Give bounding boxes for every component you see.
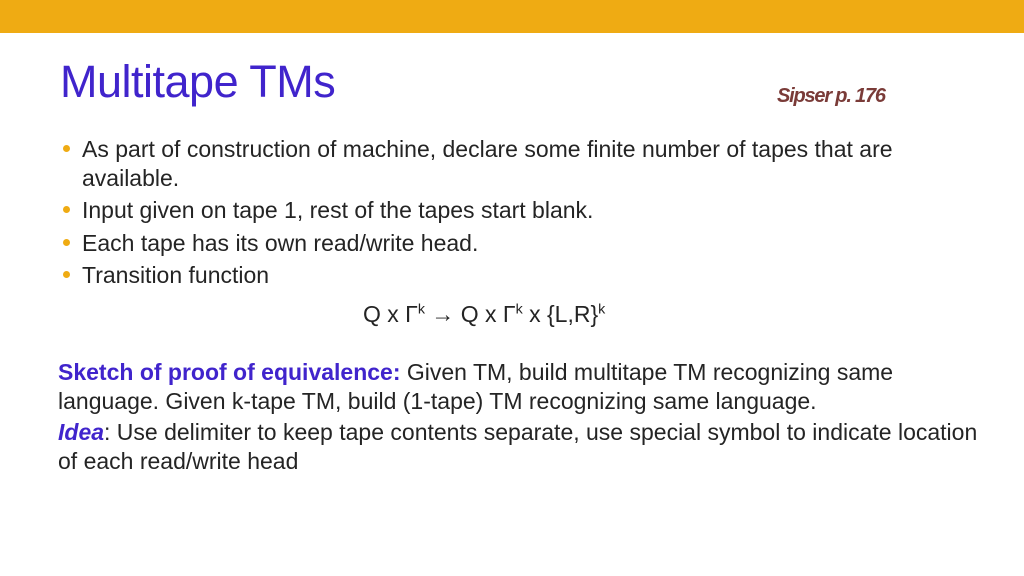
paragraph-lead-label: Sketch of proof of equivalence: <box>58 359 401 385</box>
bullet-dot-icon <box>63 145 70 152</box>
list-item: Input given on tape 1, rest of the tapes… <box>58 196 958 225</box>
formula-arrow-part: → Q x Γ <box>425 301 516 327</box>
slide: Multitape TMs Sipser p. 176 As part of c… <box>0 0 1024 576</box>
paragraph-lead-label: Idea <box>58 419 104 445</box>
list-item-text: Input given on tape 1, rest of the tapes… <box>82 197 593 223</box>
list-item: Each tape has its own read/write head. <box>58 229 958 258</box>
formula-superscript-1: k <box>418 301 425 317</box>
paragraph-idea: Idea: Use delimiter to keep tape content… <box>58 418 978 475</box>
source-reference: Sipser p. 176 <box>777 85 885 108</box>
list-item-text: As part of construction of machine, decl… <box>82 136 893 191</box>
list-item: As part of construction of machine, decl… <box>58 135 958 192</box>
bullet-list: As part of construction of machine, decl… <box>58 135 958 294</box>
list-item-text: Each tape has its own read/write head. <box>82 230 478 256</box>
formula-part-1: Q x Γ <box>363 301 418 327</box>
page-title: Multitape TMs <box>60 58 335 106</box>
bullet-dot-icon <box>63 239 70 246</box>
bullet-dot-icon <box>63 271 70 278</box>
bullet-dot-icon <box>63 206 70 213</box>
list-item-text: Transition function <box>82 262 269 288</box>
formula-superscript-3: k <box>598 301 605 317</box>
body-paragraphs: Sketch of proof of equivalence: Given TM… <box>58 358 978 475</box>
paragraph-sketch-of-proof: Sketch of proof of equivalence: Given TM… <box>58 358 978 415</box>
paragraph-body-text: : Use delimiter to keep tape contents se… <box>58 419 977 474</box>
formula-superscript-2: k <box>516 301 523 317</box>
formula-part-3: x {L,R} <box>523 301 598 327</box>
list-item: Transition function <box>58 261 958 290</box>
top-accent-bar <box>0 0 1024 33</box>
transition-function-formula: Q x Γk → Q x Γk x {L,R}k <box>363 300 605 328</box>
